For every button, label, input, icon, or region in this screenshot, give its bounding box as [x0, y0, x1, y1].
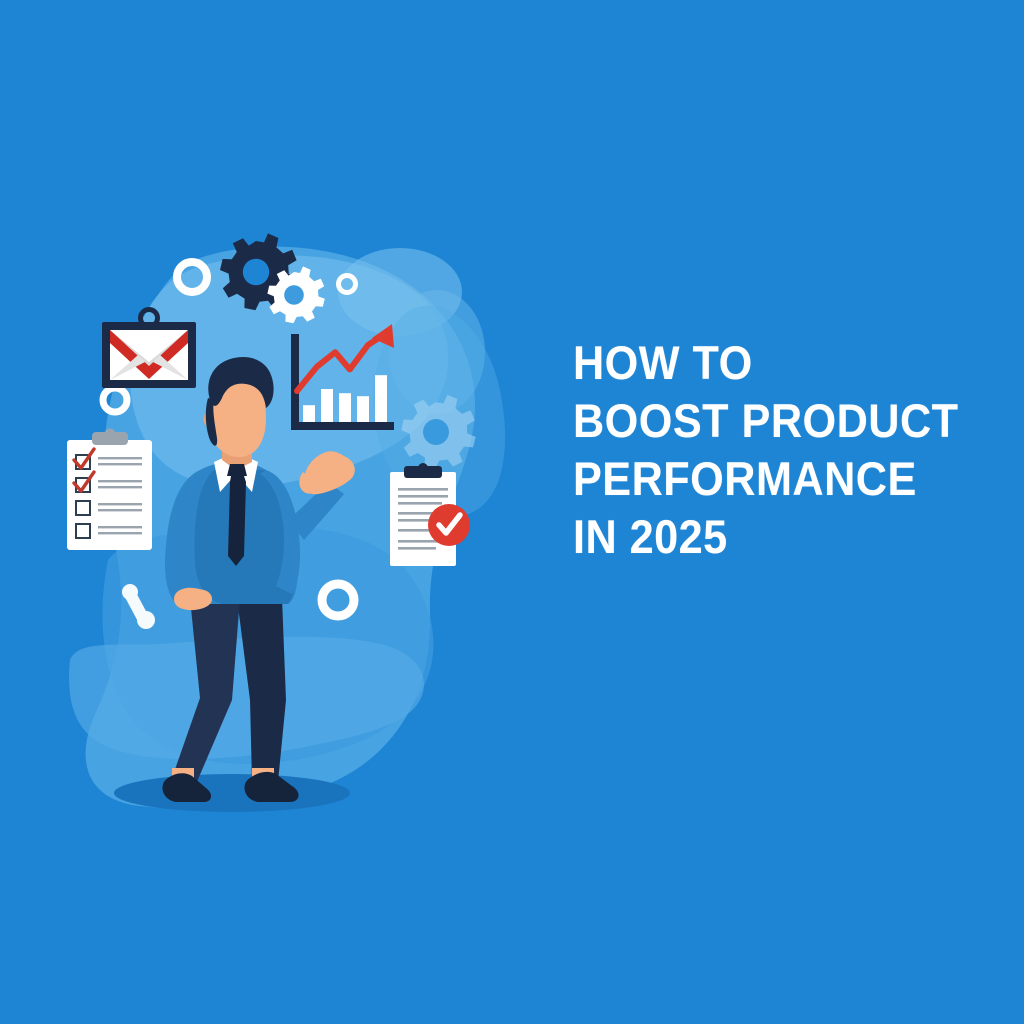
- chart-bar-5: [375, 375, 387, 422]
- headline-line-2: BOOST PRODUCT: [573, 392, 959, 450]
- character-leg-back: [237, 598, 286, 782]
- ring-decor-icon-3: [339, 276, 356, 293]
- character-shoe-right: [244, 772, 298, 802]
- gear-faint-icon: [401, 395, 476, 469]
- chart-trend-line: [297, 332, 388, 391]
- bone-decor-icon: [122, 584, 155, 629]
- ring-decor-icon: [177, 262, 207, 292]
- ring-decor-icon-4: [322, 584, 354, 616]
- envelope-icon: [102, 310, 196, 389]
- chart-bar-2: [321, 389, 333, 422]
- poster-canvas: HOW TO BOOST PRODUCT PERFORMANCE IN 2025: [0, 0, 1024, 1024]
- character-tie: [228, 470, 246, 566]
- headline-line-4: IN 2025: [573, 508, 959, 566]
- character-tie-knot: [227, 464, 247, 476]
- chart-trend-arrow-head: [372, 324, 394, 348]
- checklist-clipboard-icon: [67, 429, 152, 551]
- chart-bar-1: [303, 405, 315, 422]
- chart-bar-3: [339, 393, 351, 422]
- headline-line-3: PERFORMANCE: [573, 450, 959, 508]
- character-shoe-left: [162, 773, 211, 802]
- chart-bar-4: [357, 396, 369, 422]
- ring-decor-icon-2: [103, 388, 127, 412]
- growth-chart-icon: [291, 324, 394, 430]
- character-leg-front: [172, 598, 240, 784]
- headline-line-1: HOW TO: [573, 334, 959, 392]
- approved-document-icon: [390, 463, 470, 566]
- headline-block: HOW TO BOOST PRODUCT PERFORMANCE IN 2025: [573, 334, 993, 566]
